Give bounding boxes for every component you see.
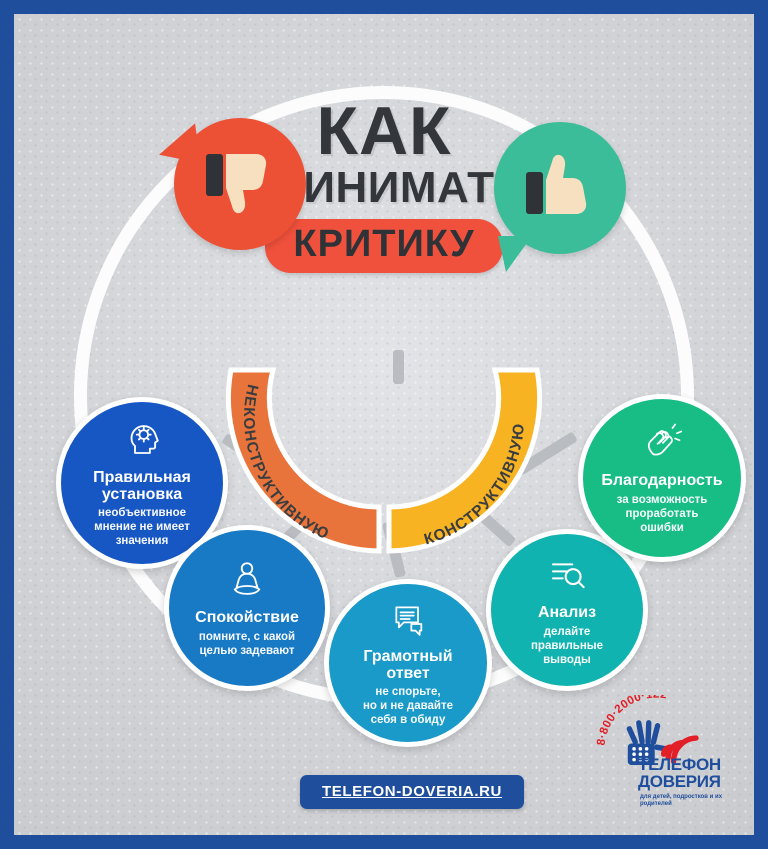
node-title-line-1: Спокойствие [195,609,299,626]
node-description: за возможность проработать ошибки [617,493,708,535]
thumbs-up-icon [518,144,602,228]
node-spokoystvie[interactable]: Спокойствие помните, с какой целью задев… [164,525,330,691]
website-url-badge[interactable]: TELEFON-DOVERIA.RU [300,775,524,809]
title-pill-kritiku: КРИТИКУ [265,219,502,273]
poster-canvas: КАК ПРИНИМАТЬ КРИТИКУ [14,14,754,835]
node-description: необъективное мнение не имеет значения [94,506,190,548]
node-title: Спокойствие [195,609,299,626]
node-title: Грамотный ответ [363,648,452,683]
node-description: не спорьте, но и не давайте себя в обиду [363,685,453,727]
speech-bubble-dislike [174,118,306,250]
node-title-line-1: Анализ [538,604,596,621]
node-analiz[interactable]: Анализ делайте правильные выводы [486,529,648,691]
head-gear-icon [121,418,163,465]
node-title: Правильная установка [93,469,191,504]
node-title-line-1: Благодарность [601,472,722,489]
logo-name: ТЕЛЕФОН ДОВЕРИЯ [638,757,721,790]
node-gramotny-otvet[interactable]: Грамотный ответ не спорьте, но и не дава… [324,579,492,747]
logo-name-line-2: ДОВЕРИЯ [638,772,721,791]
node-title-line-1: Грамотный [363,648,452,665]
thumbs-down-icon [198,140,282,224]
node-blagodarnost[interactable]: Благодарность за возможность проработать… [578,394,746,562]
node-title-line-2: установка [102,486,182,503]
telefon-doveriya-logo: 8·800·2000·122 ТЕЛЕФОН ДОВЕРИЯ для детей… [586,695,736,813]
node-description: помните, с какой целью задевают [199,630,295,658]
meditation-icon [226,558,268,605]
node-description: делайте правильные выводы [531,625,603,667]
speech-lines-icon [388,599,428,644]
page-title: КАК ПРИНИМАТЬ КРИТИКУ [14,100,754,273]
clapping-hands-icon [641,421,683,468]
node-title-line-1: Правильная [93,469,191,486]
node-title: Анализ [538,604,596,621]
title-line-2: ПРИНИМАТЬ [14,166,754,211]
speech-bubble-like [494,122,626,254]
magnifier-lines-icon [546,553,588,600]
logo-tagline: для детей, подростков и их родителей [640,794,735,808]
poster-frame: КАК ПРИНИМАТЬ КРИТИКУ [0,0,768,849]
node-title: Благодарность [601,472,722,489]
title-line-1: КАК [14,100,754,164]
node-title-line-2: ответ [386,665,429,682]
